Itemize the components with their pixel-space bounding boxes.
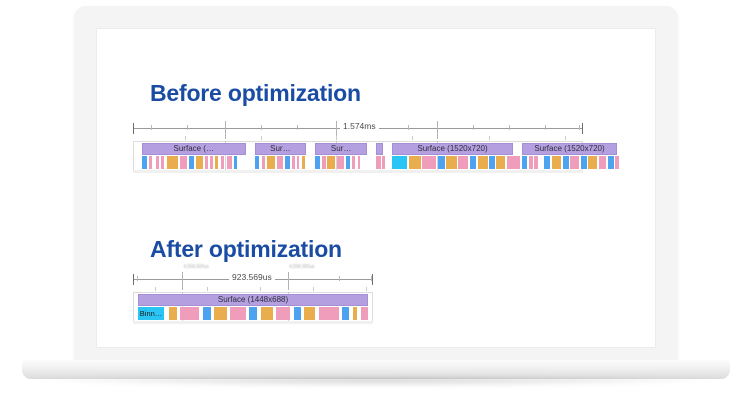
track-baseline bbox=[133, 321, 373, 324]
frame-bar[interactable]: Binn… bbox=[138, 307, 164, 320]
ruler-tick bbox=[371, 276, 372, 281]
frame-bar[interactable] bbox=[267, 156, 275, 169]
frame-bar[interactable] bbox=[255, 156, 260, 169]
frame-bar[interactable] bbox=[608, 156, 613, 169]
frame-bar[interactable] bbox=[337, 156, 344, 169]
frame-bar[interactable] bbox=[409, 156, 421, 169]
frame-bar[interactable] bbox=[615, 156, 618, 169]
surface-segment[interactable] bbox=[376, 143, 383, 155]
frame-bar[interactable] bbox=[544, 156, 550, 169]
ruler-tick bbox=[261, 125, 262, 130]
frame-bar[interactable] bbox=[234, 156, 237, 169]
ruler-end-cap bbox=[133, 123, 134, 134]
frame-bar[interactable] bbox=[167, 156, 178, 169]
frame-bar[interactable] bbox=[361, 307, 369, 320]
ruler-subtick bbox=[260, 287, 261, 291]
ruler-subtick bbox=[261, 136, 262, 140]
ruler-subtick bbox=[489, 136, 490, 140]
frame-bar[interactable] bbox=[422, 156, 436, 169]
timeline-track[interactable]: Surface (1448x688)Binn… bbox=[133, 292, 373, 324]
laptop-drop-shadow bbox=[28, 378, 724, 387]
ruler-end-cap bbox=[582, 123, 583, 134]
frame-bar[interactable] bbox=[327, 156, 335, 169]
frame-bar[interactable] bbox=[210, 156, 213, 169]
trace-before-optimization: 1.574msSurface (…Sur…Sur…Surface (1520x7… bbox=[133, 119, 583, 174]
ruler-tick bbox=[545, 125, 546, 130]
frame-bar[interactable] bbox=[169, 307, 177, 320]
heading-after-optimization: After optimization bbox=[150, 236, 342, 263]
frame-bar[interactable] bbox=[149, 156, 152, 169]
frame-bar[interactable] bbox=[161, 156, 164, 169]
frame-bar[interactable] bbox=[196, 156, 203, 169]
frame-bar[interactable] bbox=[588, 156, 597, 169]
frame-bar[interactable] bbox=[297, 156, 300, 169]
surface-segment[interactable]: Surface (1520x720) bbox=[522, 143, 617, 155]
frame-bar[interactable] bbox=[478, 156, 488, 169]
frame-bar[interactable] bbox=[261, 307, 273, 320]
frame-bar[interactable] bbox=[230, 307, 246, 320]
frame-bar[interactable] bbox=[214, 307, 226, 320]
ruler-tick bbox=[297, 125, 298, 130]
frame-bar[interactable] bbox=[392, 156, 407, 169]
ruler-tick bbox=[187, 125, 188, 130]
heading-before-optimization: Before optimization bbox=[150, 80, 361, 107]
ruler-end-cap bbox=[372, 274, 373, 285]
frame-bar[interactable] bbox=[315, 156, 320, 169]
frame-bar[interactable] bbox=[304, 307, 315, 320]
frame-bar[interactable] bbox=[552, 156, 562, 169]
laptop-base bbox=[22, 360, 730, 379]
frame-bar[interactable] bbox=[438, 156, 445, 169]
ruler-tick bbox=[151, 125, 152, 130]
frame-bar[interactable] bbox=[262, 156, 265, 169]
frame-bar[interactable] bbox=[446, 156, 457, 169]
ruler-subtick bbox=[336, 136, 337, 140]
frame-bar[interactable] bbox=[189, 156, 194, 169]
frame-bar[interactable] bbox=[294, 307, 301, 320]
frame-bar[interactable] bbox=[221, 156, 224, 169]
ruler-subtick bbox=[155, 287, 156, 291]
ruler-subtick bbox=[185, 136, 186, 140]
frame-bar[interactable] bbox=[203, 307, 211, 320]
ruler-subtick bbox=[565, 136, 566, 140]
frame-bar[interactable] bbox=[599, 156, 606, 169]
ruler-subtick bbox=[207, 287, 208, 291]
surface-segment[interactable]: Surface (… bbox=[142, 143, 246, 155]
frame-bar[interactable] bbox=[570, 156, 579, 169]
ruler-end-cap bbox=[133, 274, 134, 285]
frame-bar[interactable] bbox=[319, 307, 339, 320]
frame-bar[interactable] bbox=[382, 156, 385, 169]
surface-segment-row: Surface (…Sur…Sur…Surface (1520x720)Surf… bbox=[133, 143, 583, 155]
frame-bar[interactable] bbox=[322, 156, 326, 169]
ruler-subtick bbox=[366, 287, 367, 291]
frame-bar[interactable] bbox=[285, 156, 290, 169]
frame-bar[interactable] bbox=[529, 156, 533, 169]
trace-after-optimization: 4,558,500us4,558,900us923.569usSurface (… bbox=[133, 270, 373, 325]
frame-bar[interactable] bbox=[507, 156, 521, 169]
frame-bar[interactable] bbox=[180, 156, 187, 169]
surface-segment[interactable]: Surface (1448x688) bbox=[138, 294, 368, 306]
ruler-timestamp-label: 4,558,900us bbox=[289, 264, 314, 270]
frame-bar-row bbox=[133, 156, 583, 169]
frame-bar[interactable] bbox=[489, 156, 495, 169]
frame-bar[interactable] bbox=[376, 156, 381, 169]
frame-bar[interactable] bbox=[563, 156, 569, 169]
frame-bar[interactable] bbox=[346, 156, 351, 169]
ruler-tick bbox=[473, 125, 474, 130]
ruler-tick bbox=[408, 125, 409, 130]
timeline-ruler[interactable]: 1.574ms bbox=[133, 119, 583, 140]
ruler-subtick bbox=[412, 136, 413, 140]
surface-segment[interactable]: Surface (1520x720) bbox=[392, 143, 514, 155]
frame-bar[interactable] bbox=[215, 156, 218, 169]
ruler-tick bbox=[509, 125, 510, 130]
timeline-ruler[interactable]: 4,558,500us4,558,900us923.569us bbox=[133, 270, 373, 291]
surface-segment[interactable]: Sur… bbox=[255, 143, 307, 155]
ruler-timestamp-label: 4,558,500us bbox=[183, 264, 208, 270]
frame-bar[interactable] bbox=[292, 156, 295, 169]
screenshot-stage: Before optimization 1.574msSurface (…Sur… bbox=[0, 0, 752, 402]
track-baseline bbox=[133, 170, 583, 173]
frame-bar[interactable] bbox=[276, 307, 290, 320]
frame-bar[interactable] bbox=[352, 156, 355, 169]
frame-bar[interactable] bbox=[249, 307, 257, 320]
frame-bar[interactable] bbox=[277, 156, 283, 169]
duration-label: 1.574ms bbox=[340, 121, 379, 131]
ruler-tick bbox=[339, 276, 340, 281]
surface-segment[interactable]: Sur… bbox=[315, 143, 367, 155]
frame-bar[interactable] bbox=[180, 307, 199, 320]
timeline-track[interactable]: Surface (…Sur…Sur…Surface (1520x720)Surf… bbox=[133, 141, 583, 173]
duration-label: 923.569us bbox=[229, 272, 275, 282]
ruler-tick bbox=[579, 125, 580, 130]
frame-bar[interactable] bbox=[302, 156, 305, 169]
frame-bar[interactable] bbox=[496, 156, 505, 169]
frame-bar[interactable] bbox=[156, 156, 159, 169]
frame-bar[interactable] bbox=[458, 156, 468, 169]
frame-bar[interactable] bbox=[205, 156, 208, 169]
surface-segment-row: Surface (1448x688) bbox=[133, 294, 373, 306]
frame-bar[interactable] bbox=[353, 307, 357, 320]
frame-bar[interactable] bbox=[142, 156, 147, 169]
frame-bar[interactable] bbox=[227, 156, 232, 169]
frame-bar[interactable] bbox=[358, 156, 361, 169]
frame-bar-row: Binn… bbox=[133, 307, 373, 320]
frame-bar[interactable] bbox=[581, 156, 586, 169]
frame-bar[interactable] bbox=[470, 156, 476, 169]
ruler-subtick bbox=[313, 287, 314, 291]
frame-bar[interactable] bbox=[534, 156, 538, 169]
frame-bar[interactable] bbox=[342, 307, 349, 320]
frame-bar[interactable] bbox=[522, 156, 527, 169]
ruler-tick bbox=[137, 276, 138, 281]
